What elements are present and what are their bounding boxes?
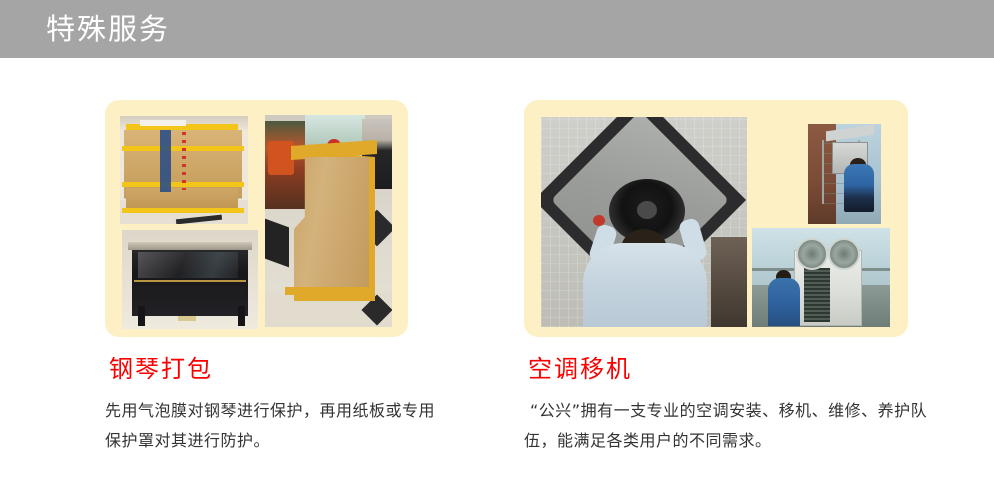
services-section: 钢琴打包 先用气泡膜对钢琴进行保护，再用纸板或专用保护罩对其进行防护。 [0, 58, 994, 492]
condenser-coil-shape [804, 268, 830, 322]
ac-ceiling-install-photo [541, 117, 747, 327]
service-description-piano-packing: 先用气泡膜对钢琴进行保护，再用纸板或专用保护罩对其进行防护。 [105, 396, 435, 456]
floor-tile-shape [265, 219, 289, 268]
piano-pedals-shape [178, 316, 196, 321]
piano-black-photo [122, 230, 258, 329]
condenser-fan-shape [796, 238, 828, 270]
piano-leg-shape [138, 306, 145, 326]
piano-leg-shape [238, 306, 245, 326]
ac-photo-card [524, 100, 908, 337]
piano-keybed-shape [134, 286, 246, 296]
strap-horizontal-shape [122, 208, 244, 213]
strap-vertical-shape [160, 130, 171, 192]
service-title-piano-packing: 钢琴打包 [105, 354, 408, 384]
label-sticker-shape [140, 120, 186, 126]
service-description-ac-relocation: “公兴”拥有一支专业的空调安装、移机、维修、养护队伍，能满足各类用户的不同需求。 [524, 396, 944, 456]
wrap-tape-bottom-shape [285, 287, 375, 295]
service-title-ac-relocation: 空调移机 [524, 354, 908, 384]
piano-reflection-shape [138, 252, 238, 278]
piano-gold-trim-shape [134, 280, 246, 282]
piano-lid-shape [128, 242, 252, 250]
page-title: 特殊服务 [46, 9, 170, 49]
service-item-piano-packing: 钢琴打包 先用气泡膜对钢琴进行保护，再用纸板或专用保护罩对其进行防护。 [105, 100, 408, 456]
printed-marking-shape [182, 132, 186, 190]
worker-body-shape [768, 278, 800, 326]
piano-wrapped-photo [265, 115, 392, 327]
ac-wall-unit-photo [808, 124, 881, 224]
condenser-fan-shape [828, 238, 860, 270]
page-header-bar: 特殊服务 [0, 0, 994, 58]
piano-photo-card [105, 100, 408, 337]
service-item-ac-relocation: 空调移机 “公兴”拥有一支专业的空调安装、移机、维修、养护队伍，能满足各类用户的… [524, 100, 908, 456]
worker-body-shape [844, 164, 874, 212]
worker-body-shape [583, 243, 707, 327]
ac-condenser-photo [752, 228, 890, 327]
worker-glove-shape [593, 215, 605, 226]
piano-boxed-photo [120, 116, 248, 224]
background-strip-shape [711, 237, 747, 327]
ac-fan-hub-shape [637, 201, 657, 219]
